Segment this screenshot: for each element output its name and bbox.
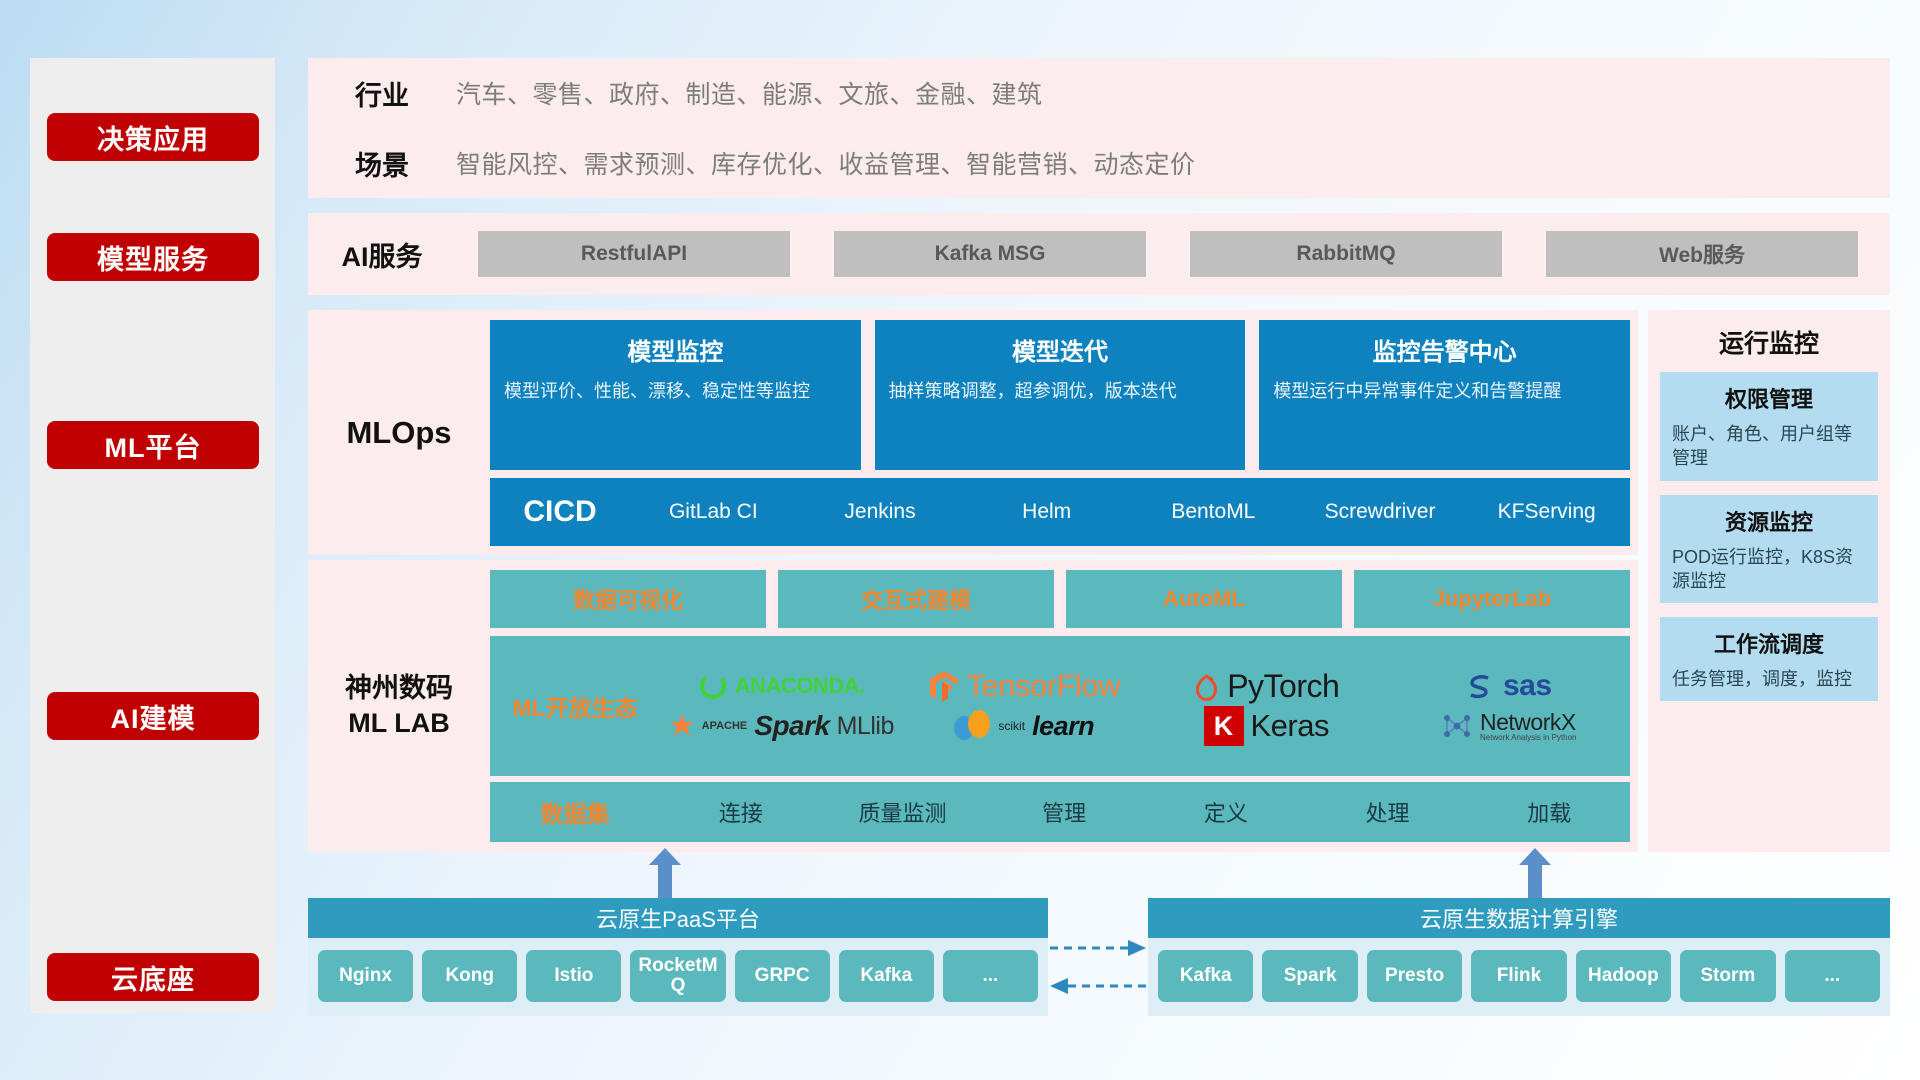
dataset-item-list: 连接 质量监测 管理 定义 处理 加载: [660, 796, 1630, 828]
cicd-tool-screwdriver[interactable]: Screwdriver: [1297, 501, 1464, 523]
ml-ecosystem-label: ML开放生态: [490, 689, 660, 723]
data-engine-chip-list: Kafka Spark Presto Flink Hadoop Storm ..…: [1148, 938, 1890, 1014]
ai-service-label: AI服务: [308, 235, 456, 274]
ai-service-button-web[interactable]: Web服务: [1546, 231, 1858, 277]
architecture-diagram: 决策应用 模型服务 ML平台 AI建模 云底座 行业 汽车、零售、政府、制造、能…: [0, 0, 1920, 1080]
paas-chip-rocketmq[interactable]: RocketMQ: [630, 950, 725, 1002]
engine-chip-presto[interactable]: Presto: [1367, 950, 1462, 1002]
pytorch-mark-icon: [1193, 671, 1220, 701]
anaconda-mark-icon: [698, 671, 728, 701]
dataset-title: 数据集: [490, 795, 660, 829]
cicd-tool-list: GitLab CI Jenkins Helm BentoML Screwdriv…: [630, 501, 1630, 523]
rail-chip-ml-platform[interactable]: ML平台: [47, 421, 259, 469]
tensorflow-logo: TensorFlow: [903, 668, 1146, 704]
tensorflow-mark-icon: [928, 669, 960, 703]
paas-chip-nginx[interactable]: Nginx: [318, 950, 413, 1002]
spark-mllib-logo: APACHE Spark MLlib: [660, 710, 903, 742]
spark-logo-text: Spark: [754, 710, 829, 742]
card-title: 模型迭代: [889, 332, 1232, 367]
tab-automl[interactable]: AutoML: [1066, 570, 1342, 628]
industry-value: 汽车、零售、政府、制造、能源、文旅、金融、建筑: [456, 75, 1043, 111]
ml-lab-label: 神州数码 ML LAB: [308, 560, 490, 852]
cicd-title: CICD: [490, 495, 630, 529]
learn-logo-text: learn: [1032, 711, 1094, 742]
engine-chip-flink[interactable]: Flink: [1471, 950, 1566, 1002]
sas-logo: sas: [1388, 669, 1631, 703]
runtime-monitoring-title: 运行监控: [1648, 310, 1890, 372]
card-desc: 抽样策略调整，超参调优，版本迭代: [889, 379, 1232, 403]
monitoring-card-permission[interactable]: 权限管理 账户、角色、用户组等管理: [1660, 372, 1878, 481]
scenario-value: 智能风控、需求预测、库存优化、收益管理、智能营销、动态定价: [456, 145, 1196, 181]
ml-lab-panel: 神州数码 ML LAB 数据可视化 交互式建模 AutoML JupyterLa…: [308, 560, 1638, 852]
sas-mark-icon: [1466, 671, 1496, 701]
mllib-logo-text: MLlib: [837, 712, 894, 741]
keras-mark-icon: K: [1204, 706, 1244, 746]
rail-chip-ai-modeling[interactable]: AI建模: [47, 692, 259, 740]
ai-service-button-kafka-msg[interactable]: Kafka MSG: [834, 231, 1146, 277]
monitoring-card-workflow[interactable]: 工作流调度 任务管理，调度，监控: [1660, 617, 1878, 701]
engine-chip-kafka[interactable]: Kafka: [1158, 950, 1253, 1002]
tensorflow-logo-text: TensorFlow: [967, 668, 1121, 704]
monitoring-card-resource[interactable]: 资源监控 POD运行监控，K8S资源监控: [1660, 495, 1878, 604]
data-engine-header: 云原生数据计算引擎: [1148, 898, 1890, 938]
paas-chip-kafka[interactable]: Kafka: [839, 950, 934, 1002]
ai-service-panel: AI服务 RestfulAPI Kafka MSG RabbitMQ Web服务: [308, 213, 1890, 295]
cicd-bar: CICD GitLab CI Jenkins Helm BentoML Scre…: [490, 478, 1630, 546]
networkx-subtitle: Network Analysis in Python: [1480, 734, 1577, 742]
engine-chip-storm[interactable]: Storm: [1680, 950, 1775, 1002]
paas-chip-kong[interactable]: Kong: [422, 950, 517, 1002]
rail-chip-label: AI建模: [111, 697, 196, 736]
engine-chip-more[interactable]: ...: [1785, 950, 1880, 1002]
card-desc: 模型评价、性能、漂移、稳定性等监控: [504, 379, 847, 403]
ml-lab-tab-list: 数据可视化 交互式建模 AutoML JupyterLab: [490, 570, 1630, 628]
rail-chip-label: 模型服务: [97, 238, 209, 277]
ml-lab-label-line2: ML LAB: [348, 706, 450, 741]
keras-logo: K Keras: [1145, 706, 1388, 746]
pytorch-logo-text: PyTorch: [1227, 668, 1339, 705]
ai-service-buttons: RestfulAPI Kafka MSG RabbitMQ Web服务: [456, 231, 1890, 277]
sas-logo-text: sas: [1503, 669, 1552, 703]
card-title: 工作流调度: [1672, 627, 1866, 659]
card-desc: 模型运行中异常事件定义和告警提醒: [1273, 379, 1616, 403]
dataset-item-process[interactable]: 处理: [1307, 796, 1469, 828]
networkx-logo: NetworkX Network Analysis in Python: [1388, 711, 1631, 742]
tab-interactive-modeling[interactable]: 交互式建模: [778, 570, 1054, 628]
left-layer-rail: 决策应用 模型服务 ML平台 AI建模 云底座: [30, 58, 275, 1013]
engine-chip-spark[interactable]: Spark: [1262, 950, 1357, 1002]
cicd-tool-gitlab-ci[interactable]: GitLab CI: [630, 501, 797, 523]
card-title: 权限管理: [1672, 382, 1866, 414]
scikit-text: scikit: [998, 719, 1025, 733]
cicd-tool-kfserving[interactable]: KFServing: [1463, 501, 1630, 523]
rail-chip-cloud-base[interactable]: 云底座: [47, 953, 259, 1001]
dataset-item-manage[interactable]: 管理: [983, 796, 1145, 828]
card-desc: 任务管理，调度，监控: [1672, 667, 1866, 691]
pytorch-logo: PyTorch: [1145, 668, 1388, 705]
paas-header: 云原生PaaS平台: [308, 898, 1048, 938]
mlops-card-alert-center[interactable]: 监控告警中心 模型运行中异常事件定义和告警提醒: [1259, 320, 1630, 470]
scikit-learn-mark-icon: [953, 709, 991, 743]
tab-jupyterlab[interactable]: JupyterLab: [1354, 570, 1630, 628]
rail-chip-label: 决策应用: [97, 118, 209, 157]
dataset-item-quality[interactable]: 质量监测: [822, 796, 984, 828]
bidirectional-link-arrows-icon: [1048, 932, 1148, 1002]
card-desc: 账户、角色、用户组等管理: [1672, 422, 1866, 471]
mlops-card-model-iteration[interactable]: 模型迭代 抽样策略调整，超参调优，版本迭代: [875, 320, 1246, 470]
industry-row: 行业 汽车、零售、政府、制造、能源、文旅、金融、建筑: [308, 58, 1890, 128]
scenario-label: 场景: [308, 144, 456, 183]
card-title: 模型监控: [504, 332, 847, 367]
networkx-mark-icon: [1441, 711, 1473, 741]
paas-up-arrow-icon: [648, 848, 682, 900]
anaconda-logo-text: ANACONDA.: [735, 673, 865, 699]
spark-apache-text: APACHE: [702, 720, 748, 732]
cicd-tool-helm[interactable]: Helm: [963, 501, 1130, 523]
paas-chip-list: Nginx Kong Istio RocketMQ GRPC Kafka ...: [308, 938, 1048, 1014]
rail-chip-label: ML平台: [105, 426, 202, 465]
runtime-monitoring-panel: 运行监控 权限管理 账户、角色、用户组等管理 资源监控 POD运行监控，K8S资…: [1648, 310, 1890, 852]
rail-chip-model-service[interactable]: 模型服务: [47, 233, 259, 281]
card-title: 资源监控: [1672, 505, 1866, 537]
scikit-learn-logo: scikit learn: [903, 709, 1146, 743]
mlops-card-list: 模型监控 模型评价、性能、漂移、稳定性等监控 模型迭代 抽样策略调整，超参调优，…: [490, 320, 1630, 470]
paas-chip-more[interactable]: ...: [943, 950, 1038, 1002]
keras-logo-text: Keras: [1251, 708, 1329, 744]
ml-ecosystem-logo-grid: ANACONDA. TensorFlow: [660, 666, 1630, 746]
spark-star-icon: [669, 713, 695, 739]
mlops-card-model-monitoring[interactable]: 模型监控 模型评价、性能、漂移、稳定性等监控: [490, 320, 861, 470]
dataset-item-connect[interactable]: 连接: [660, 796, 822, 828]
cloud-native-data-engine-block: 云原生数据计算引擎 Kafka Spark Presto Flink Hadoo…: [1148, 898, 1890, 1016]
cloud-native-paas-block: 云原生PaaS平台 Nginx Kong Istio RocketMQ GRPC…: [308, 898, 1048, 1016]
ai-service-button-rabbitmq[interactable]: RabbitMQ: [1190, 231, 1502, 277]
cicd-tool-bentoml[interactable]: BentoML: [1130, 501, 1297, 523]
ml-ecosystem-row: ML开放生态 ANACONDA. TensorFlow: [490, 636, 1630, 776]
rail-chip-label: 云底座: [111, 958, 195, 997]
rail-chip-decision-app[interactable]: 决策应用: [47, 113, 259, 161]
card-title: 监控告警中心: [1273, 332, 1616, 367]
ml-lab-label-line1: 神州数码: [345, 671, 453, 706]
industry-label: 行业: [308, 74, 456, 113]
card-desc: POD运行监控，K8S资源监控: [1672, 545, 1866, 594]
dataset-item-define[interactable]: 定义: [1145, 796, 1307, 828]
cicd-tool-jenkins[interactable]: Jenkins: [797, 501, 964, 523]
anaconda-logo: ANACONDA.: [660, 671, 903, 701]
tab-data-visualization[interactable]: 数据可视化: [490, 570, 766, 628]
business-panel: 行业 汽车、零售、政府、制造、能源、文旅、金融、建筑 场景 智能风控、需求预测、…: [308, 58, 1890, 198]
mlops-panel: MLOps 模型监控 模型评价、性能、漂移、稳定性等监控 模型迭代 抽样策略调整…: [308, 310, 1638, 555]
paas-chip-istio[interactable]: Istio: [526, 950, 621, 1002]
ai-service-button-restfulapi[interactable]: RestfulAPI: [478, 231, 790, 277]
dataset-item-load[interactable]: 加载: [1468, 796, 1630, 828]
networkx-logo-text: NetworkX: [1480, 711, 1577, 734]
dataset-row: 数据集 连接 质量监测 管理 定义 处理 加载: [490, 782, 1630, 842]
scenario-row: 场景 智能风控、需求预测、库存优化、收益管理、智能营销、动态定价: [308, 128, 1890, 198]
data-engine-up-arrow-icon: [1518, 848, 1552, 900]
engine-chip-hadoop[interactable]: Hadoop: [1576, 950, 1671, 1002]
paas-chip-grpc[interactable]: GRPC: [735, 950, 830, 1002]
mlops-label: MLOps: [308, 310, 490, 555]
